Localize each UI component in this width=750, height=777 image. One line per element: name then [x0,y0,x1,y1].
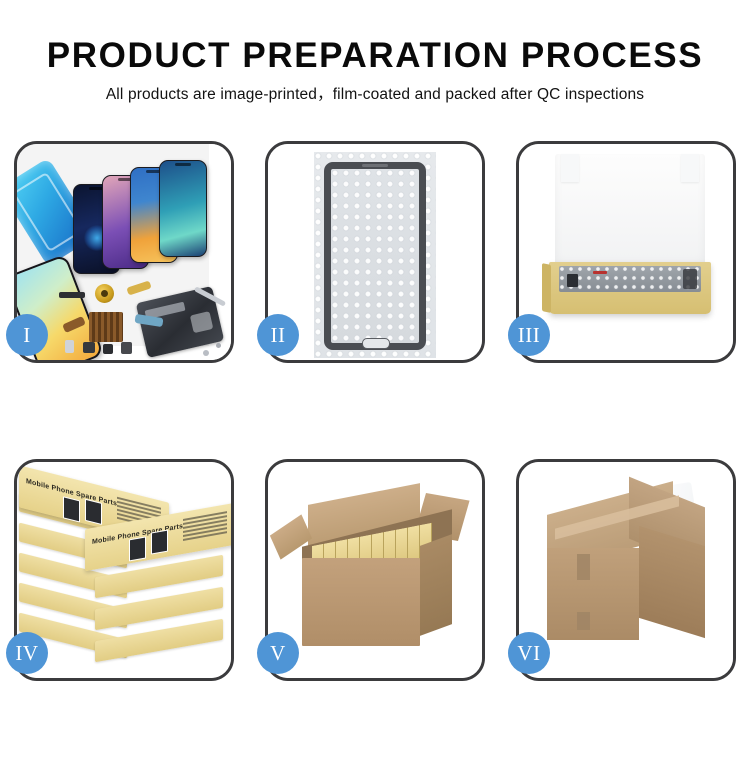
connector-part-3 [103,344,113,354]
wrapped-phone-screen [324,162,426,350]
phone-display-4 [159,160,207,257]
process-row-1: I II [14,141,736,363]
chip-grid-part [89,312,123,342]
panel-4-image: Mobile Phone Spare Parts Mobile Phone Sp… [17,462,231,678]
sealed-carton-front-face [547,548,639,640]
connector-part-1 [65,340,74,353]
white-foam-lid [555,154,705,270]
process-panel-2[interactable]: II [265,141,485,363]
box-artwork-phone-2 [85,499,102,525]
process-panel-3[interactable]: III [516,141,736,363]
phone-display-fan [73,158,223,274]
kraft-box-stack: Mobile Phone Spare Parts Mobile Phone Sp… [19,478,231,674]
step-badge-5: V [257,632,299,674]
bubble-wrap-sheet [314,152,436,358]
step-badge-6: VI [508,632,550,674]
step-badge-1: I [6,314,48,356]
box-artwork-phone-3 [129,536,146,561]
panel-5-image [268,462,482,678]
carton-front-face [302,558,420,646]
carton-side-face [420,534,452,636]
connector-part-4 [121,342,132,354]
step-badge-2: II [257,314,299,356]
panel-6-image [519,462,733,678]
box-artwork-phone-1 [63,496,80,522]
box-spec-lines-second [183,511,227,543]
page-subtitle: All products are image-printed，film-coat… [0,85,750,105]
screw-part-2 [216,343,221,348]
kraft-box-tray [549,262,711,314]
panel-3-image [519,144,733,360]
carton-tape-front-upper [577,554,590,580]
carton-tape-front-lower [577,612,590,630]
process-panel-6[interactable]: VI [516,459,736,681]
process-grid: I II [14,141,736,777]
page-header: PRODUCT PREPARATION PROCESS All products… [0,0,750,105]
panel-1-image [17,144,231,360]
speaker-part [59,292,85,298]
vibration-coil-part [95,284,114,303]
product-red-marking [593,271,607,274]
wrapped-product-in-tray [559,266,701,292]
screw-part-1 [203,350,209,356]
page-title: PRODUCT PREPARATION PROCESS [0,36,750,76]
process-panel-4[interactable]: Mobile Phone Spare Parts Mobile Phone Sp… [14,459,234,681]
box-artwork-phone-4 [151,530,168,555]
process-row-2: Mobile Phone Spare Parts Mobile Phone Sp… [14,459,736,681]
step-badge-3: III [508,314,550,356]
product-chip-detail [567,274,578,287]
step-badge-4: IV [6,632,48,674]
process-panel-1[interactable]: I [14,141,234,363]
process-panel-5[interactable]: V [265,459,485,681]
panel-2-image [268,144,482,360]
notch-icon [175,163,191,166]
connector-part-2 [83,342,95,353]
home-button-cutout [362,338,390,349]
